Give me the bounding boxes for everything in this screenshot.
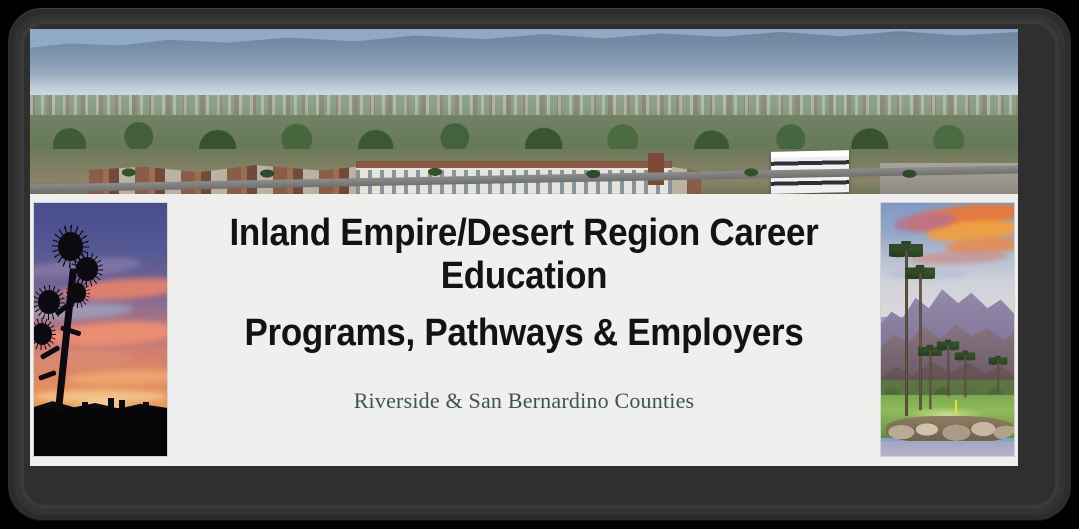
- slide-text-block: Inland Empire/Desert Region Career Educa…: [180, 194, 868, 466]
- aerial-city-image: [30, 29, 1018, 194]
- shoreline-rocks: [886, 416, 1014, 444]
- title-line-1: Inland Empire/Desert Region Career: [229, 212, 818, 254]
- palm-trunk: [947, 345, 949, 396]
- palm-trunk: [997, 360, 999, 392]
- tree-branch-lower-left: [38, 370, 57, 381]
- slide-body: Inland Empire/Desert Region Career Educa…: [30, 194, 1018, 466]
- water-hazard: [881, 441, 1014, 456]
- title-line-3: Programs, Pathways & Employers: [208, 312, 841, 355]
- palm-tree-4: [939, 340, 956, 397]
- title-line-2: Education: [441, 255, 608, 297]
- palm-trunk: [964, 355, 966, 397]
- palm-tree-5: [958, 351, 972, 398]
- street-palm-trees: [30, 167, 1018, 194]
- golf-flag: [955, 400, 957, 414]
- presentation-slide: Inland Empire/Desert Region Career Educa…: [30, 29, 1018, 466]
- slide-title: Inland Empire/Desert Region Career Educa…: [208, 212, 841, 355]
- tree-tuft-lower-left: [34, 323, 52, 345]
- desert-floor: [34, 408, 167, 456]
- joshua-tree-sunset-image: [34, 203, 167, 456]
- slide-subtitle: Riverside & San Bernardino Counties: [354, 388, 695, 414]
- tree-tuft-mid: [70, 283, 86, 303]
- palm-tree-3: [921, 345, 939, 409]
- palm-tree-6: [992, 356, 1004, 392]
- joshua-tree-silhouette: [37, 228, 119, 410]
- palm-desert-golf-image: [881, 203, 1014, 456]
- palm-trunk: [929, 350, 931, 409]
- tree-tuft-left: [38, 290, 59, 314]
- screenshot-root: Inland Empire/Desert Region Career Educa…: [0, 0, 1079, 529]
